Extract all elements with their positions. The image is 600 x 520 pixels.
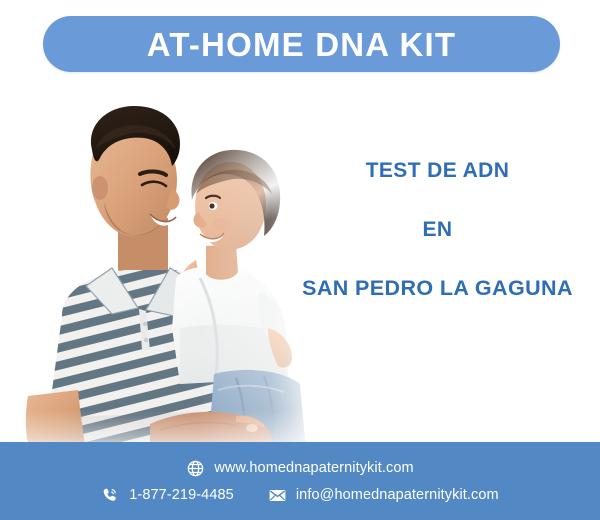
- photo-container: [0, 78, 330, 450]
- email-text: info@homednapaternitykit.com: [296, 488, 499, 503]
- headline-line-2: EN: [285, 219, 590, 240]
- header-title: AT-HOME DNA KIT: [147, 28, 456, 61]
- footer-row-phone-email: 1-877-219-4485 info@homednapaternitykit.…: [101, 486, 499, 505]
- headline-block: TEST DE ADN EN SAN PEDRO LA GAGUNA: [285, 160, 590, 300]
- headline-line-1: TEST DE ADN: [285, 160, 590, 181]
- contact-website[interactable]: www.homednapaternitykit.com: [186, 459, 413, 478]
- contact-phone[interactable]: 1-877-219-4485: [101, 486, 234, 505]
- globe-icon: [186, 459, 205, 478]
- footer-contact-bar: www.homednapaternitykit.com 1-877-219-44…: [0, 442, 600, 520]
- phone-text: 1-877-219-4485: [129, 488, 234, 503]
- footer-row-website: www.homednapaternitykit.com: [186, 459, 413, 478]
- phone-icon: [101, 486, 120, 505]
- envelope-icon: [268, 486, 287, 505]
- contact-email[interactable]: info@homednapaternitykit.com: [268, 486, 499, 505]
- website-text: www.homednapaternitykit.com: [214, 461, 413, 476]
- headline-line-3: SAN PEDRO LA GAGUNA: [285, 278, 590, 300]
- header-banner: AT-HOME DNA KIT: [43, 16, 560, 72]
- father-and-child-photo: [0, 78, 330, 450]
- poster-root: AT-HOME DNA KIT: [0, 0, 600, 520]
